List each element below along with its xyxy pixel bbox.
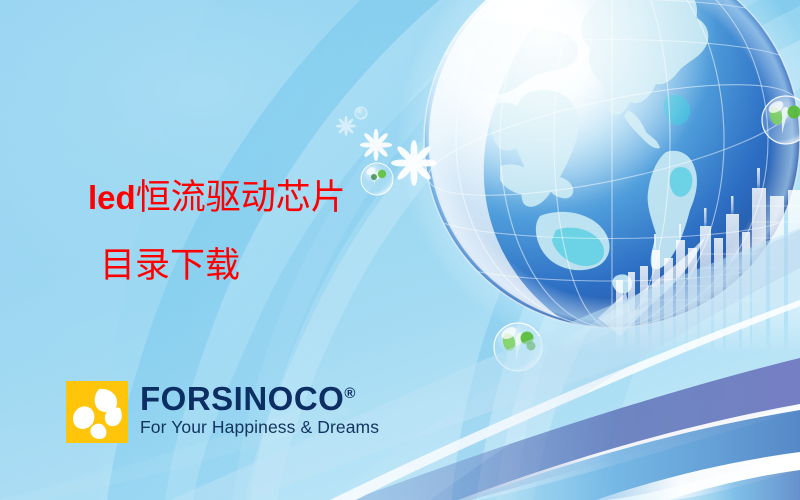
logo-wordmark: FORSINOCO® For Your Happiness & Dreams <box>140 381 379 437</box>
company-name: FORSINOCO® <box>140 382 379 415</box>
pinwheel-petals-icon <box>66 381 128 443</box>
headline-line-1-cjk: 恒流驱动芯片 <box>136 178 346 217</box>
headline-line-1-latin: led <box>88 179 136 216</box>
headline-text: led恒流驱动芯片 目录下载 <box>88 164 346 300</box>
registered-trademark-symbol: ® <box>344 385 355 402</box>
company-logo: FORSINOCO® For Your Happiness & Dreams <box>66 381 379 443</box>
headline-line-1: led恒流驱动芯片 <box>88 164 346 232</box>
headline-line-2: 目录下载 <box>88 232 346 300</box>
pinwheel-petals-mark <box>66 381 128 443</box>
company-name-text: FORSINOCO <box>140 380 344 417</box>
company-tagline: For Your Happiness & Dreams <box>140 419 379 437</box>
banner-image: led恒流驱动芯片 目录下载 FORSINOCO® For Your Happi… <box>0 0 800 500</box>
